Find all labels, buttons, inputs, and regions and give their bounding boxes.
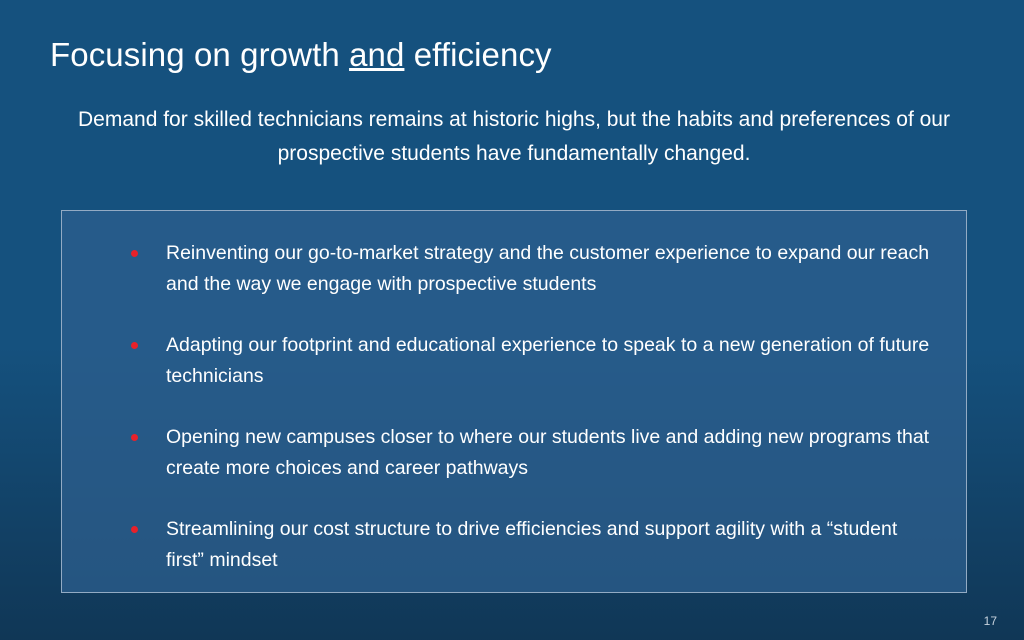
bullet-dot-icon <box>131 250 138 257</box>
bullet-dot-icon <box>131 342 138 349</box>
list-item-label: Streamlining our cost structure to drive… <box>166 514 940 576</box>
page-number: 17 <box>984 614 997 628</box>
page-title-part-1: Focusing on growth <box>50 36 349 73</box>
bullet-list: Reinventing our go-to-market strategy an… <box>62 238 966 576</box>
slide-subtitle: Demand for skilled technicians remains a… <box>64 103 964 171</box>
list-item-label: Adapting our footprint and educational e… <box>166 330 940 392</box>
bullet-dot-icon <box>131 434 138 441</box>
content-box: Reinventing our go-to-market strategy an… <box>61 210 967 593</box>
list-item: Streamlining our cost structure to drive… <box>62 514 940 576</box>
list-item-label: Opening new campuses closer to where our… <box>166 422 940 484</box>
page-title: Focusing on growth and efficiency <box>50 36 552 74</box>
list-item-label: Reinventing our go-to-market strategy an… <box>166 238 940 300</box>
bullet-dot-icon <box>131 526 138 533</box>
list-item: Reinventing our go-to-market strategy an… <box>62 238 940 300</box>
page-title-emphasis: and <box>349 36 404 73</box>
list-item: Adapting our footprint and educational e… <box>62 330 940 392</box>
presentation-slide: Focusing on growth and efficiency Demand… <box>0 0 1024 640</box>
page-title-part-2: efficiency <box>404 36 551 73</box>
list-item: Opening new campuses closer to where our… <box>62 422 940 484</box>
